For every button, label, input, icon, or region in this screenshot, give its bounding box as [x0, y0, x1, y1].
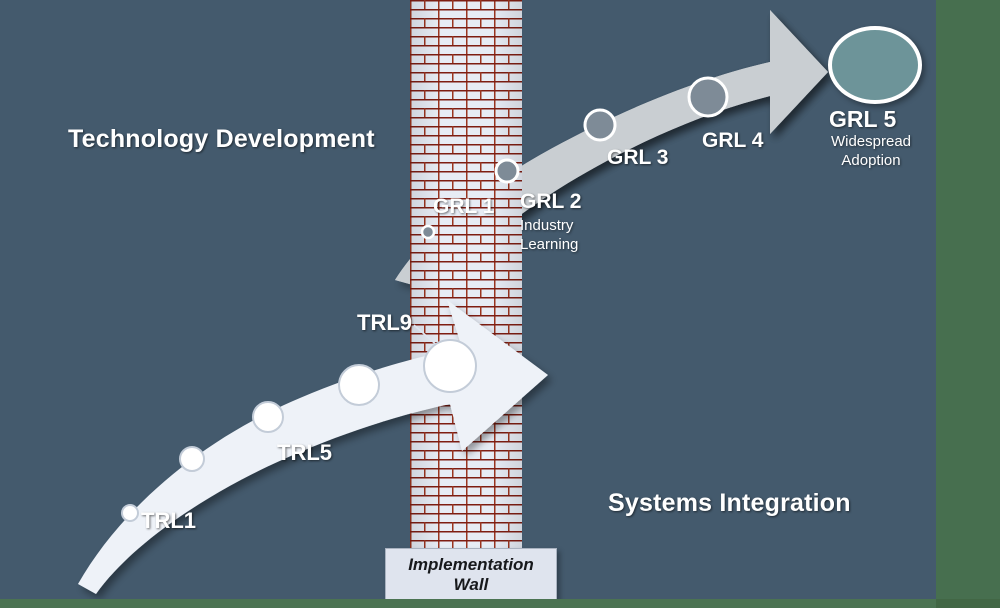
- implementation-wall-caption: Implementation Wall: [385, 548, 557, 602]
- implementation-wall-caption-text: Implementation Wall: [408, 555, 534, 594]
- label-grl3: GRL 3: [607, 146, 668, 170]
- trl-marker-1: [122, 505, 138, 521]
- label-grl5-sub-line1: Widespread: [818, 133, 924, 152]
- label-grl1: GRL 1: [433, 195, 494, 219]
- label-grl2-sub: Industry Learning: [520, 217, 594, 255]
- section-title-technology-development: Technology Development: [68, 125, 375, 154]
- label-grl2-sub-line2: Learning: [520, 236, 594, 255]
- label-grl2-sub-line1: Industry: [520, 217, 594, 236]
- label-grl5-sub: Widespread Adoption: [818, 133, 924, 171]
- frame-strip-right: [936, 0, 1000, 608]
- section-title-systems-integration: Systems Integration: [608, 489, 851, 518]
- label-trl1: TRL1: [141, 508, 196, 534]
- trl-marker-3: [180, 447, 204, 471]
- frame-strip-bottom-right: [936, 599, 1000, 608]
- label-grl5: GRL 5: [829, 106, 896, 133]
- label-grl4: GRL 4: [702, 129, 763, 153]
- grl5-endpoint-circle: [828, 26, 922, 104]
- label-trl9: TRL9: [357, 310, 412, 336]
- diagram-canvas: Technology Development Systems Integrati…: [0, 0, 1000, 608]
- trl-marker-9: [424, 340, 476, 392]
- label-trl5: TRL5: [277, 440, 332, 466]
- label-grl2: GRL 2: [520, 190, 581, 214]
- trl-marker-5: [253, 402, 283, 432]
- wall-caption-line2: Wall: [454, 575, 489, 594]
- frame-strip-bottom: [0, 599, 1000, 608]
- trl-marker-7: [339, 365, 379, 405]
- wall-caption-line1: Implementation: [408, 555, 534, 574]
- label-grl5-sub-line2: Adoption: [818, 152, 924, 171]
